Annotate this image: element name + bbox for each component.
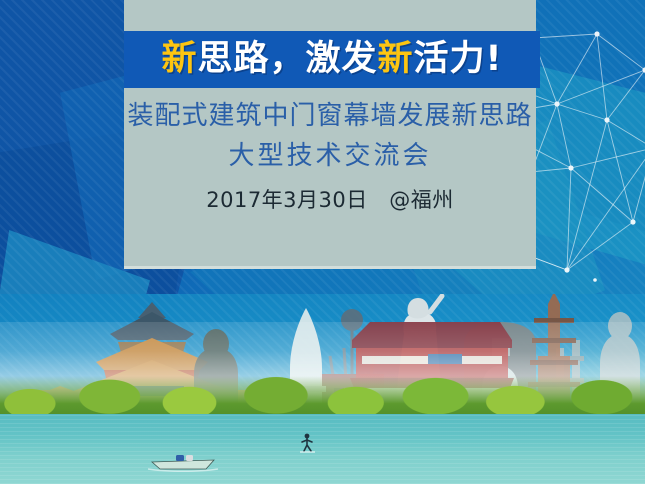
- cityscape-band: [0, 294, 645, 484]
- speedboat-icon: [148, 450, 218, 472]
- headline-segment-1: 新: [161, 39, 197, 79]
- headline-segment-2: 思路，激发: [198, 39, 378, 79]
- water-skier-icon: [296, 432, 318, 454]
- title-line-1: 装配式建筑中门窗幕墙发展新思路: [124, 96, 536, 136]
- headline-banner-text: 新思路，激发新活力!: [161, 42, 502, 77]
- event-date-location: 2017年3月30日 @福州: [124, 186, 536, 214]
- title-block: 装配式建筑中门窗幕墙发展新思路 大型技术交流会 2017年3月30日 @福州: [124, 96, 536, 214]
- poster-canvas: 新思路，激发新活力! 装配式建筑中门窗幕墙发展新思路 大型技术交流会 2017年…: [0, 0, 645, 484]
- headline-segment-3: 新: [378, 39, 414, 79]
- headline-banner: 新思路，激发新活力!: [124, 31, 540, 88]
- headline-segment-4: 活力!: [414, 39, 503, 79]
- panel-bottom-edge: [124, 266, 536, 269]
- water-reflection-sheen: [0, 414, 645, 484]
- title-line-2: 大型技术交流会: [124, 136, 536, 176]
